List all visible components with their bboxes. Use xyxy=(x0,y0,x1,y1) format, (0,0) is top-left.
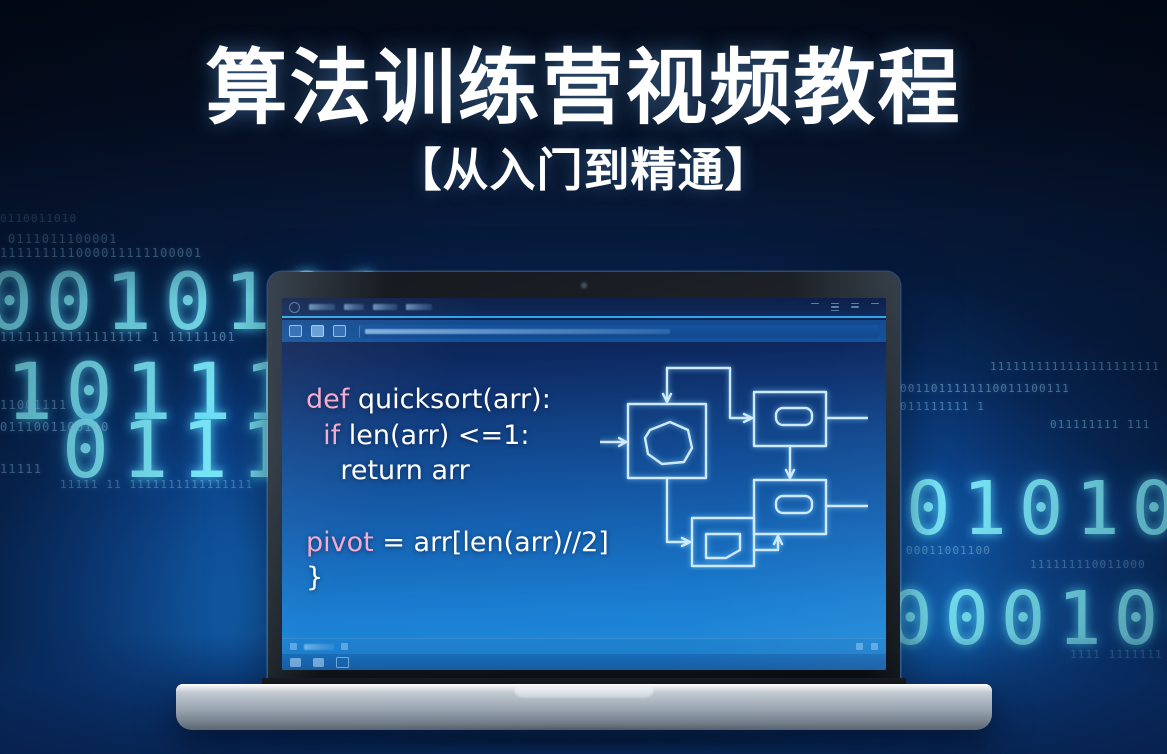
code-line: def quicksort(arr): xyxy=(306,382,609,418)
browser-statusbar xyxy=(282,638,886,654)
reload-icon[interactable] xyxy=(333,325,346,337)
connector-oct-to-para xyxy=(667,478,690,542)
laptop-shadow xyxy=(136,724,1032,754)
back-icon[interactable] xyxy=(290,643,297,650)
code-snippet: def quicksort(arr): if len(arr) <=1: ret… xyxy=(306,382,609,596)
laptop-screen: def quicksort(arr): if len(arr) <=1: ret… xyxy=(282,298,886,670)
os-taskbar xyxy=(282,654,886,670)
list-icon[interactable] xyxy=(831,303,839,312)
code-text: quicksort(arr): xyxy=(349,384,551,415)
shield-icon[interactable] xyxy=(851,303,859,312)
app-icon-1[interactable] xyxy=(290,658,301,667)
laptop-mockup: def quicksort(arr): if len(arr) <=1: ret… xyxy=(176,272,992,742)
browser-logo-icon[interactable] xyxy=(289,302,300,313)
expand-icon[interactable] xyxy=(871,643,878,650)
status-text xyxy=(304,644,334,650)
statusbar-right-group xyxy=(856,643,878,650)
flow-node-rounded-top-box xyxy=(754,392,826,446)
code-keyword: def xyxy=(306,384,349,415)
close-icon[interactable] xyxy=(871,303,879,312)
webcam-icon xyxy=(582,283,587,288)
code-text: = arr[len(arr)//2] xyxy=(374,527,609,558)
code-line: return arr xyxy=(306,453,609,489)
menu-item-file[interactable] xyxy=(309,304,335,310)
code-line: pivot = arr[len(arr)//2] xyxy=(306,525,609,561)
browser-toolbar xyxy=(282,320,886,342)
app-icon-2[interactable] xyxy=(313,658,324,667)
address-text xyxy=(365,329,670,334)
octagon-icon xyxy=(645,422,692,464)
laptop-lid: def quicksort(arr): if len(arr) <=1: ret… xyxy=(268,272,900,684)
menubar-left-group xyxy=(289,302,432,313)
code-text: len(arr) <=1: xyxy=(340,420,529,451)
parallelogram-icon xyxy=(706,534,740,558)
menu-item-help[interactable] xyxy=(406,304,432,310)
zoom-icon[interactable] xyxy=(341,643,348,650)
code-line xyxy=(306,489,609,525)
code-keyword: pivot xyxy=(306,527,374,558)
flow-node-octagon-box xyxy=(628,404,706,478)
flow-node-rounded-mid-box xyxy=(754,480,826,534)
back-icon[interactable] xyxy=(289,325,302,337)
resize-icon[interactable] xyxy=(856,643,863,650)
code-text: return arr xyxy=(306,455,470,486)
tab-icon[interactable] xyxy=(311,325,324,337)
rounded-rect-icon-top xyxy=(776,408,812,425)
connector-loop-to-top xyxy=(667,368,752,418)
screen-content: def quicksort(arr): if len(arr) <=1: ret… xyxy=(282,342,886,638)
app-icon-3[interactable] xyxy=(336,657,349,668)
browser-menubar xyxy=(282,298,886,318)
menu-item-edit[interactable] xyxy=(344,304,364,310)
code-text: } xyxy=(306,562,323,593)
page-subtitle: 【从入门到精通】 xyxy=(0,145,1167,196)
code-line: if len(arr) <=1: xyxy=(306,418,609,454)
rounded-rect-icon-mid xyxy=(776,496,812,513)
menubar-right-group xyxy=(811,303,879,312)
poster-canvas: 0010101101111001111101010101000100101100… xyxy=(0,0,1167,754)
address-input[interactable] xyxy=(359,325,879,338)
star-icon[interactable] xyxy=(811,303,819,312)
page-title: 算法训练营视频教程 xyxy=(0,46,1167,133)
base-notch xyxy=(514,687,654,699)
algorithm-flowchart xyxy=(600,360,868,570)
code-keyword: if xyxy=(306,420,340,451)
code-line: } xyxy=(306,560,609,596)
menu-item-view[interactable] xyxy=(373,304,397,310)
poster-title-block: 算法训练营视频教程 【从入门到精通】 xyxy=(0,46,1167,196)
